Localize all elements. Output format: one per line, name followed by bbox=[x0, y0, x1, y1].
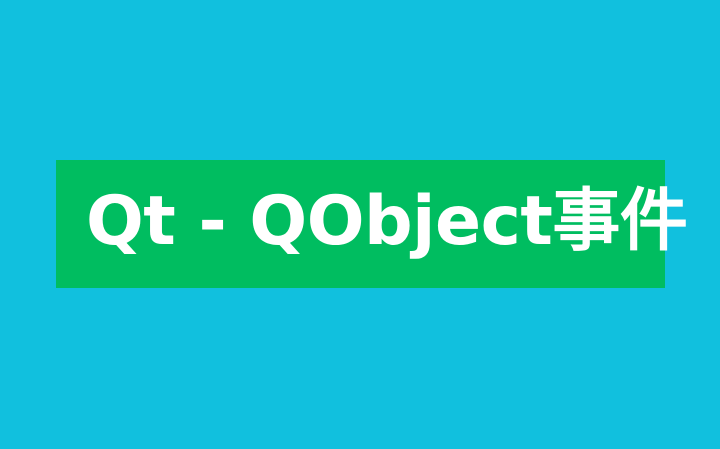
cover-canvas: Qt - QObject事件 bbox=[0, 0, 720, 449]
title-banner: Qt - QObject事件 bbox=[56, 160, 665, 288]
title-text: Qt - QObject事件 bbox=[86, 188, 687, 256]
